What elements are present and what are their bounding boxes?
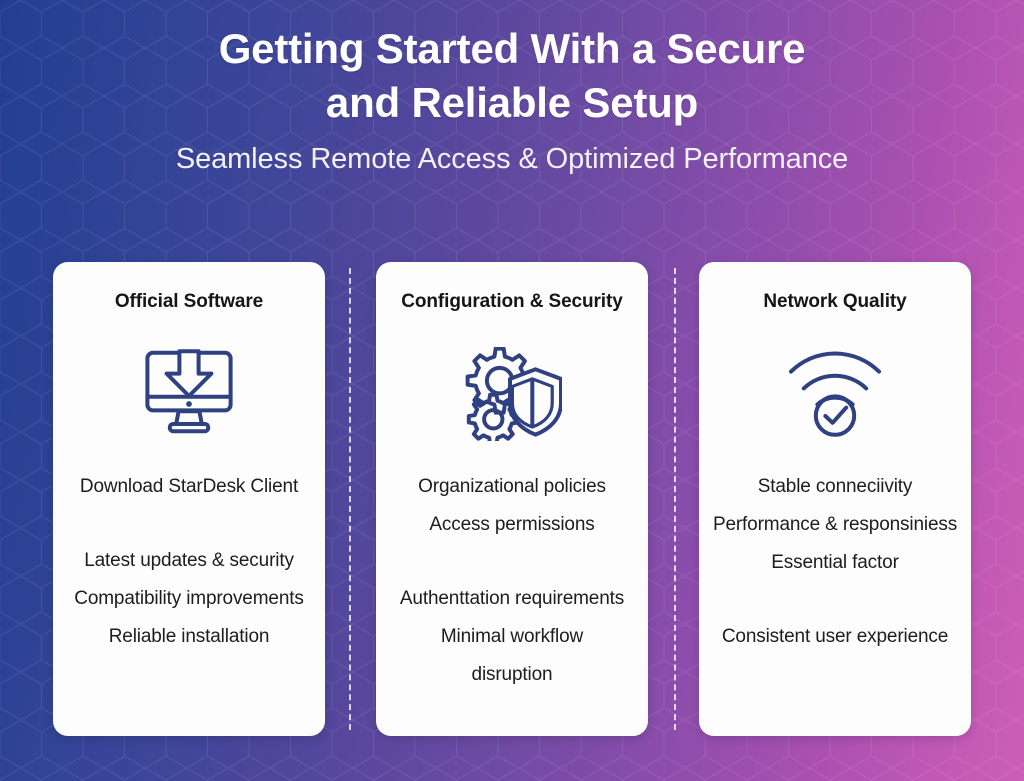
card-body: Download StarDesk Client Latest updates … xyxy=(63,468,315,656)
cards-row: Official Software Download StarDesk Clie… xyxy=(53,262,971,736)
title-line-2: and Reliable Setup xyxy=(0,76,1024,130)
body-line: Authenttation requirements xyxy=(386,580,638,618)
body-group: Latest updates & security Compatibility … xyxy=(63,542,315,656)
body-group: Download StarDesk Client xyxy=(63,468,315,506)
card-title: Configuration & Security xyxy=(401,290,622,314)
infographic-poster: Getting Started With a Secure and Reliab… xyxy=(0,0,1024,781)
body-line: Performance & responsiniess xyxy=(709,506,961,544)
card-official-software[interactable]: Official Software Download StarDesk Clie… xyxy=(53,262,325,736)
body-line: Stable conneciivity xyxy=(709,468,961,506)
card-body: Organizational policies Access permissio… xyxy=(386,468,638,694)
body-group: Authenttation requirements Minimal workf… xyxy=(386,580,638,694)
body-group: Consistent user experience xyxy=(709,618,961,656)
card-configuration-security[interactable]: Configuration & Security Organiz xyxy=(376,262,648,736)
page-title: Getting Started With a Secure and Reliab… xyxy=(0,22,1024,130)
body-line: Reliable installation xyxy=(63,618,315,656)
card-title: Official Software xyxy=(115,290,263,314)
monitor-download-icon xyxy=(141,346,237,442)
body-group: Stable conneciivity Performance & respon… xyxy=(709,468,961,582)
body-line: Minimal workflow xyxy=(386,618,638,656)
gears-shield-icon xyxy=(462,346,562,442)
body-line: Organizational policies xyxy=(386,468,638,506)
wifi-check-icon xyxy=(787,346,883,442)
poster-header: Getting Started With a Secure and Reliab… xyxy=(0,0,1024,177)
card-body: Stable conneciivity Performance & respon… xyxy=(709,468,961,656)
body-line: Essential factor xyxy=(709,544,961,582)
body-line: Access permissions xyxy=(386,506,638,544)
title-line-1: Getting Started With a Secure xyxy=(0,22,1024,76)
card-title: Network Quality xyxy=(763,290,906,314)
body-group: Organizational policies Access permissio… xyxy=(386,468,638,544)
body-line: disruption xyxy=(386,656,638,694)
body-line: Consistent user experience xyxy=(709,618,961,656)
card-network-quality[interactable]: Network Quality Stable conneciivity Perf… xyxy=(699,262,971,736)
body-line: Compatibility improvements xyxy=(63,580,315,618)
body-line: Latest updates & security xyxy=(63,542,315,580)
page-subtitle: Seamless Remote Access & Optimized Perfo… xyxy=(0,141,1024,177)
body-line: Download StarDesk Client xyxy=(63,468,315,506)
